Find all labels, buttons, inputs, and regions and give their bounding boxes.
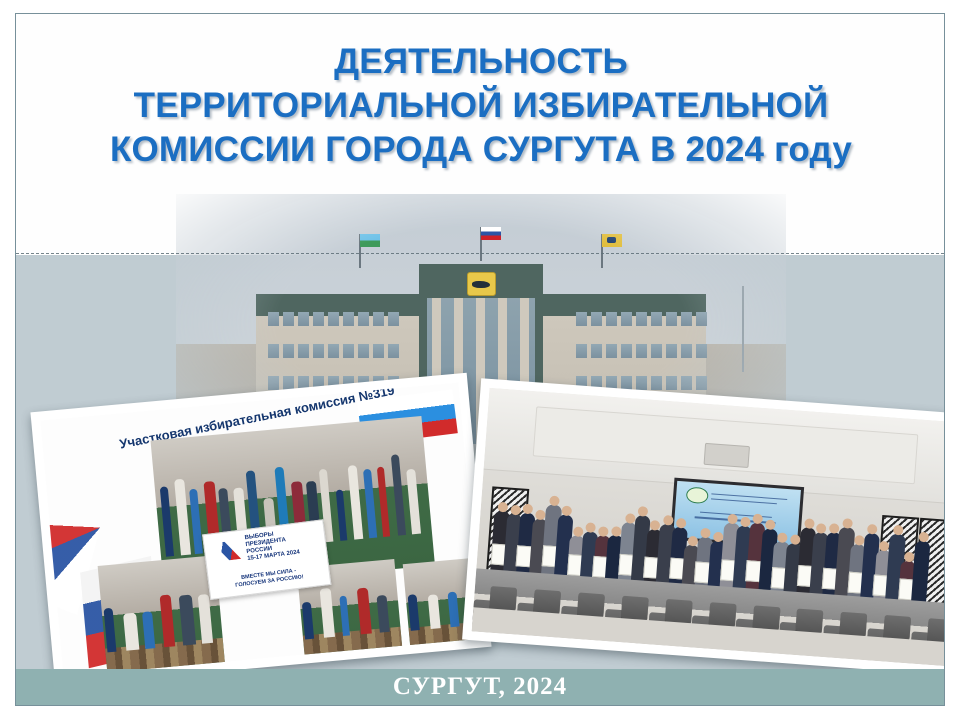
projector-icon [704, 443, 750, 468]
conference-room-inner: (function(){ const suits=['#2b2b33','#3a… [472, 388, 945, 666]
person-head [663, 515, 674, 526]
person-head [687, 536, 698, 547]
polling-station-collage-photo[interactable]: Участковая избирательная комиссия №319 В… [30, 373, 491, 687]
building-window [651, 312, 662, 326]
person-head [727, 514, 738, 525]
building-window [343, 344, 354, 358]
building-window [576, 312, 587, 326]
screen-text-line [711, 498, 778, 504]
building-window [606, 312, 617, 326]
building-window [328, 312, 339, 326]
person-figure [302, 601, 315, 639]
building-window [358, 312, 369, 326]
person-figure [123, 612, 139, 651]
person-head [561, 506, 572, 517]
person-figure [189, 488, 202, 554]
flag-surgut-icon [602, 234, 622, 247]
person-head [765, 520, 776, 531]
person-head [573, 526, 584, 537]
person-figure [104, 608, 116, 653]
building-window [298, 312, 309, 326]
collage-inner: Участковая избирательная комиссия №319 В… [40, 382, 482, 676]
person-figure [319, 588, 335, 638]
building-window [666, 376, 677, 390]
building-window [696, 312, 707, 326]
building-window [696, 344, 707, 358]
person-head [650, 520, 661, 531]
person-figure [377, 594, 391, 632]
building-window [681, 344, 692, 358]
building-window [666, 344, 677, 358]
person-head [535, 510, 546, 521]
person-head [790, 534, 801, 545]
building-window [621, 344, 632, 358]
building-window [268, 312, 279, 326]
building-window [651, 344, 662, 358]
person-figure [339, 595, 350, 635]
person-head [893, 524, 904, 535]
person-figure [160, 595, 176, 648]
building-window [636, 312, 647, 326]
person-figure [174, 479, 191, 555]
person-head [740, 517, 751, 528]
person-head [638, 506, 649, 517]
title-divider-rule [16, 253, 944, 254]
person-figure [348, 465, 363, 540]
building-window [576, 344, 587, 358]
person-figure [377, 466, 390, 537]
building-window [651, 376, 662, 390]
person-head [816, 524, 827, 535]
footer-caption: СУРГУТ, 2024 [16, 669, 944, 705]
building-window [388, 312, 399, 326]
person-figure [335, 490, 347, 541]
person-head [918, 531, 929, 542]
person-figure [390, 454, 406, 535]
building-window [636, 344, 647, 358]
flag-yugra-icon [360, 234, 380, 247]
poster-title: ВЫБОРЫ ПРЕЗИДЕНТА РОССИИ 15-17 МАРТА 202… [244, 529, 300, 563]
person-head [523, 503, 534, 514]
person-figure [427, 594, 440, 629]
page-title: ДЕЯТЕЛЬНОСТЬ ТЕРРИТОРИАЛЬНОЙ ИЗБИРАТЕЛЬН… [16, 40, 945, 172]
poster-v-logo-icon [213, 540, 242, 562]
building-window [681, 312, 692, 326]
person-head [829, 524, 840, 535]
poster-slogan: ВМЕСТЕ МЫ СИЛА - ГОЛОСУЕМ ЗА РОССИЮ! [218, 565, 320, 592]
presentation-slide: (function(){ const b = document.getEleme… [15, 13, 945, 706]
building-window [591, 312, 602, 326]
building-window [606, 344, 617, 358]
person-figure [447, 592, 459, 628]
building-window [666, 312, 677, 326]
person-head [510, 504, 521, 515]
carpet-floor [303, 627, 403, 660]
person-figure [362, 468, 377, 538]
person-figure [160, 486, 174, 557]
person-head [549, 496, 560, 507]
person-figure [197, 594, 213, 644]
person-head [867, 524, 878, 535]
person-head [904, 552, 915, 563]
commission-logo-icon [685, 486, 708, 504]
award-ceremony-photo[interactable]: (function(){ const suits=['#2b2b33','#3a… [462, 378, 945, 676]
building-window [313, 344, 324, 358]
person-head [625, 514, 636, 525]
person-head [879, 541, 890, 552]
person-head [842, 518, 853, 529]
building-window [681, 376, 692, 390]
building-window [283, 344, 294, 358]
person-head [598, 527, 609, 538]
person-head [497, 501, 508, 512]
person-figure [406, 469, 421, 535]
person-head [804, 518, 815, 529]
building-window [388, 344, 399, 358]
person-figure [407, 594, 420, 631]
person-figure [357, 587, 372, 634]
person-head [753, 513, 764, 524]
building-window [268, 376, 279, 390]
building-window [313, 312, 324, 326]
person-head [713, 532, 724, 543]
building-window [328, 344, 339, 358]
person-head [854, 535, 865, 546]
radio-tower [742, 286, 744, 372]
building-window [591, 344, 602, 358]
person-head [676, 518, 687, 529]
person-figure [142, 611, 155, 649]
flag-russia-icon [481, 227, 501, 240]
person-head [586, 522, 597, 533]
building-window [268, 344, 279, 358]
building-window [343, 312, 354, 326]
person-head [700, 528, 711, 539]
person-head [611, 526, 622, 537]
building-window [358, 344, 369, 358]
building-window [621, 312, 632, 326]
building-window [373, 312, 384, 326]
building-window [636, 376, 647, 390]
person-head [777, 533, 788, 544]
building-window [298, 344, 309, 358]
surgut-coat-of-arms-icon [467, 272, 496, 296]
building-window [283, 312, 294, 326]
building-window [373, 344, 384, 358]
person-figure [179, 594, 196, 646]
building-window [696, 376, 707, 390]
